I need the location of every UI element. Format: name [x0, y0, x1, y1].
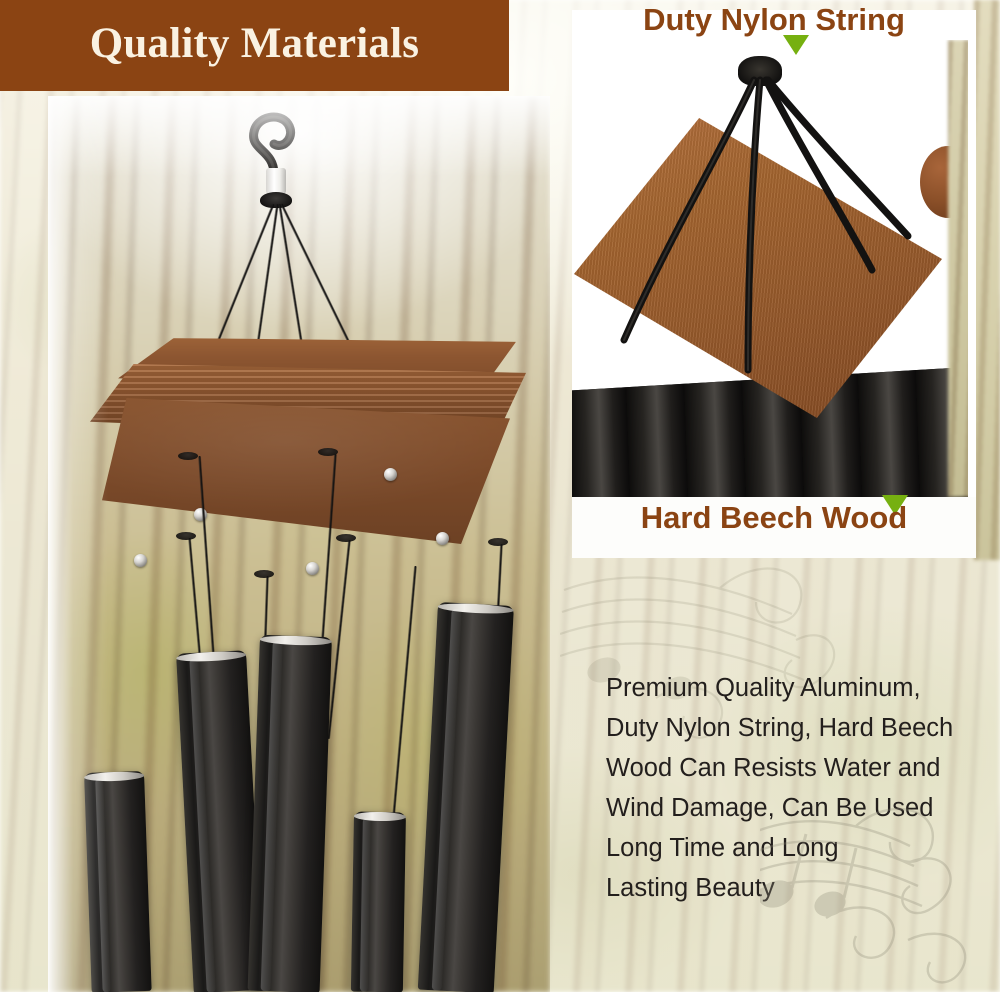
description-line: Duty Nylon String, Hard Beech	[606, 708, 988, 748]
wind-chime-main-photo	[48, 96, 550, 992]
arrow-down-icon	[783, 35, 809, 55]
callout-hard-beech-wood: Hard Beech Wood	[572, 500, 976, 536]
wood-plate-closeup-photo	[572, 40, 968, 497]
quality-materials-banner: Quality Materials	[0, 0, 509, 91]
wood-plate-closeup-card	[572, 10, 976, 558]
callout-top-label: Duty Nylon String	[643, 2, 905, 37]
inset-right-background-strip	[948, 40, 968, 497]
page-title: Quality Materials	[90, 19, 419, 68]
description-line: Lasting Beauty	[606, 868, 988, 908]
main-photo-edge-fade	[48, 96, 550, 992]
description-line: Wind Damage, Can Be Used	[606, 788, 988, 828]
product-description: Premium Quality Aluminum, Duty Nylon Str…	[606, 668, 988, 908]
description-line: Wood Can Resists Water and	[606, 748, 988, 788]
description-line: Premium Quality Aluminum,	[606, 668, 988, 708]
callout-duty-nylon-string: Duty Nylon String	[572, 2, 976, 38]
right-edge-background-strip	[974, 0, 1000, 560]
product-infographic: Quality Materials	[0, 0, 1000, 992]
description-line: Long Time and Long	[606, 828, 988, 868]
inset-nylon-strings	[572, 40, 968, 497]
callout-bottom-label: Hard Beech Wood	[641, 500, 907, 535]
